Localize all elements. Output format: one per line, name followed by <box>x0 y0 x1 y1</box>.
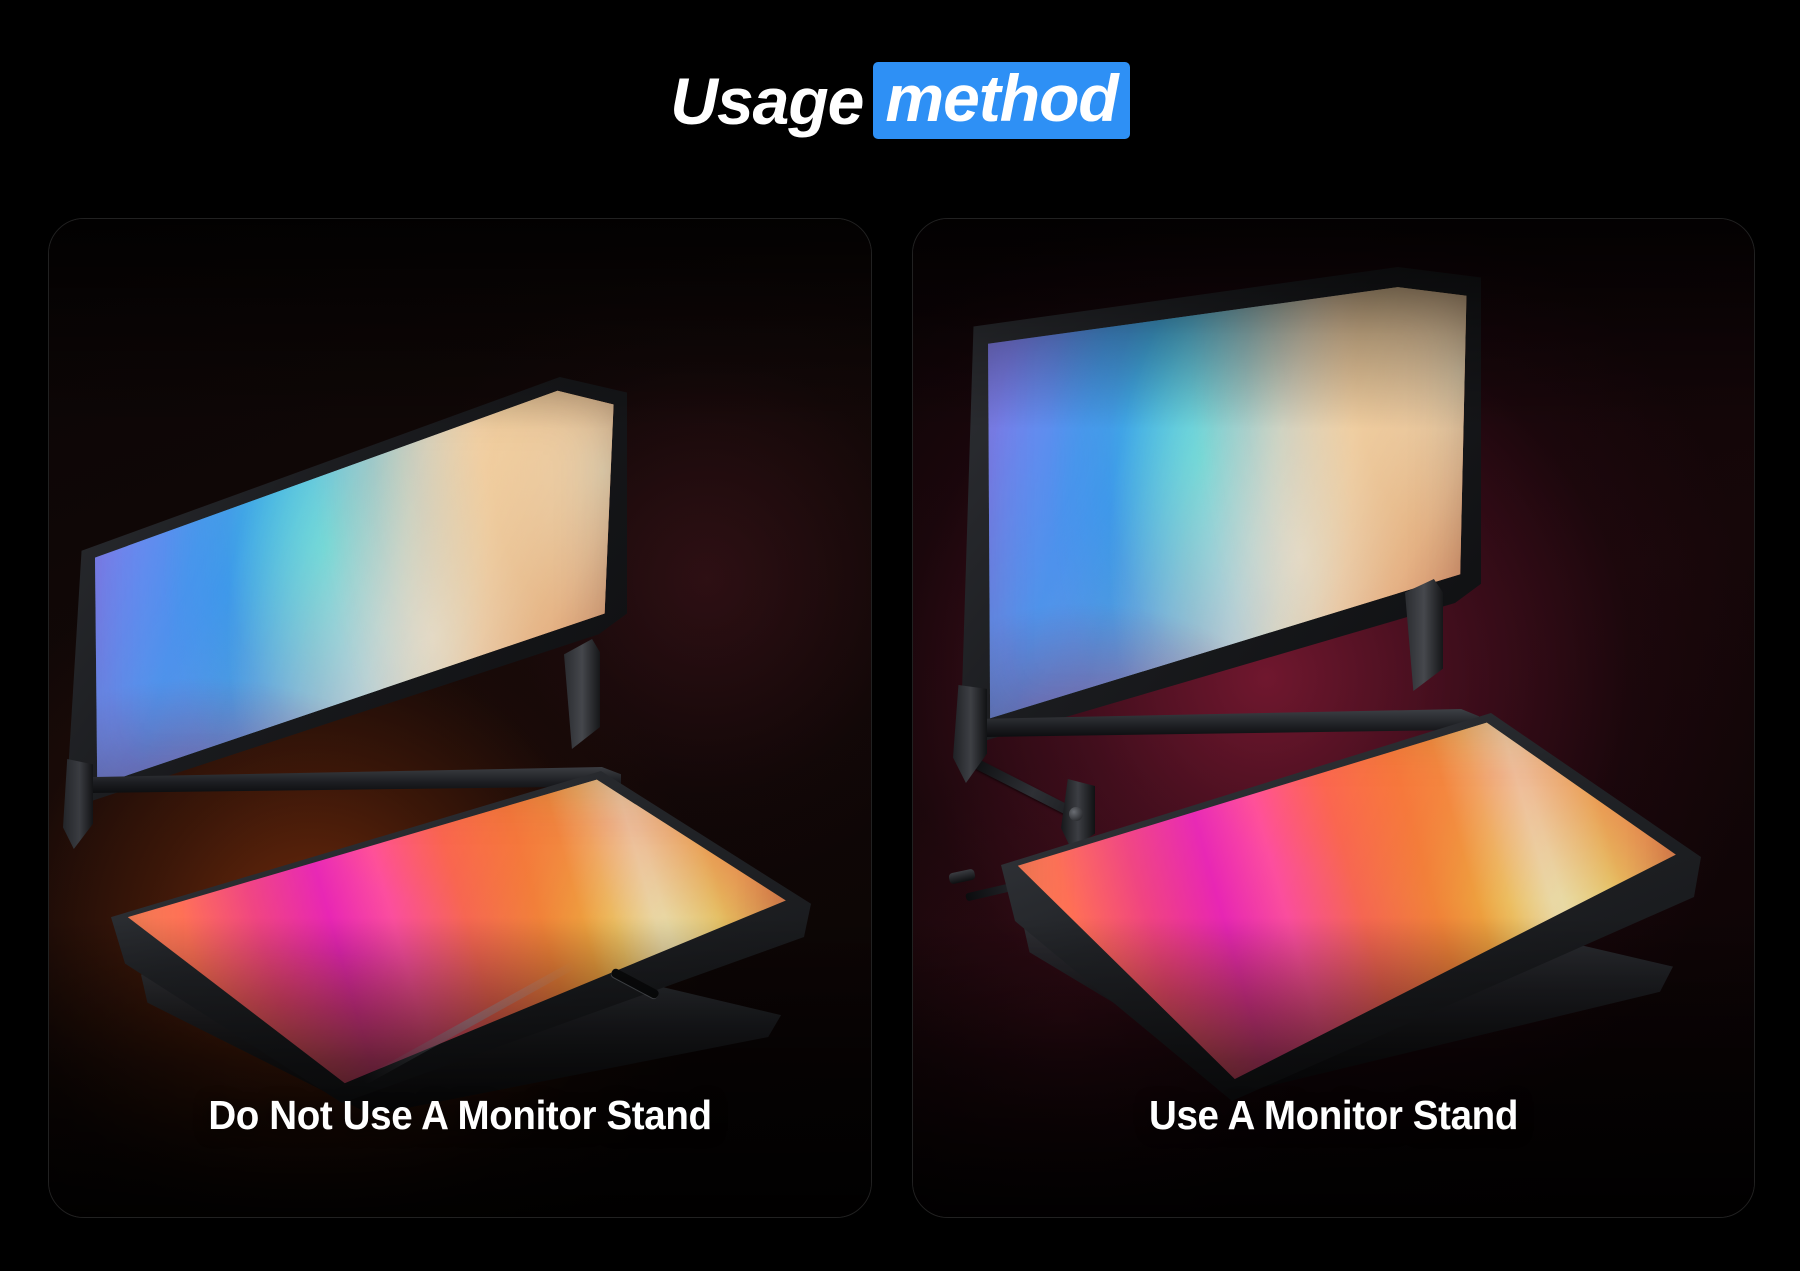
hinge-ear-left <box>63 759 93 849</box>
panel-card-use-stand: Use A Monitor Stand <box>912 218 1755 1218</box>
upper-screen-wallpaper <box>961 267 1481 747</box>
panel-caption-right: Use A Monitor Stand <box>938 1092 1729 1139</box>
hinge-ear-right <box>564 639 600 749</box>
kickstand-pivot-pin <box>1069 807 1083 821</box>
page-title-plain: Usage <box>670 68 863 134</box>
upper-screen <box>961 267 1481 747</box>
device-illustration-no-stand <box>49 219 872 1218</box>
device-illustration-with-stand <box>913 219 1755 1218</box>
kickstand-foot <box>948 868 976 884</box>
marketing-banner: Usagemethod <box>0 0 1800 1271</box>
upper-screen <box>67 377 627 807</box>
panel-card-do-not-use-stand: Do Not Use A Monitor Stand <box>48 218 872 1218</box>
hinge-ear-right <box>1405 579 1443 691</box>
page-title-highlight: method <box>873 62 1129 139</box>
page-title: Usagemethod <box>0 62 1800 139</box>
upper-screen-wallpaper <box>67 377 627 807</box>
panel-caption-left: Do Not Use A Monitor Stand <box>74 1092 847 1139</box>
